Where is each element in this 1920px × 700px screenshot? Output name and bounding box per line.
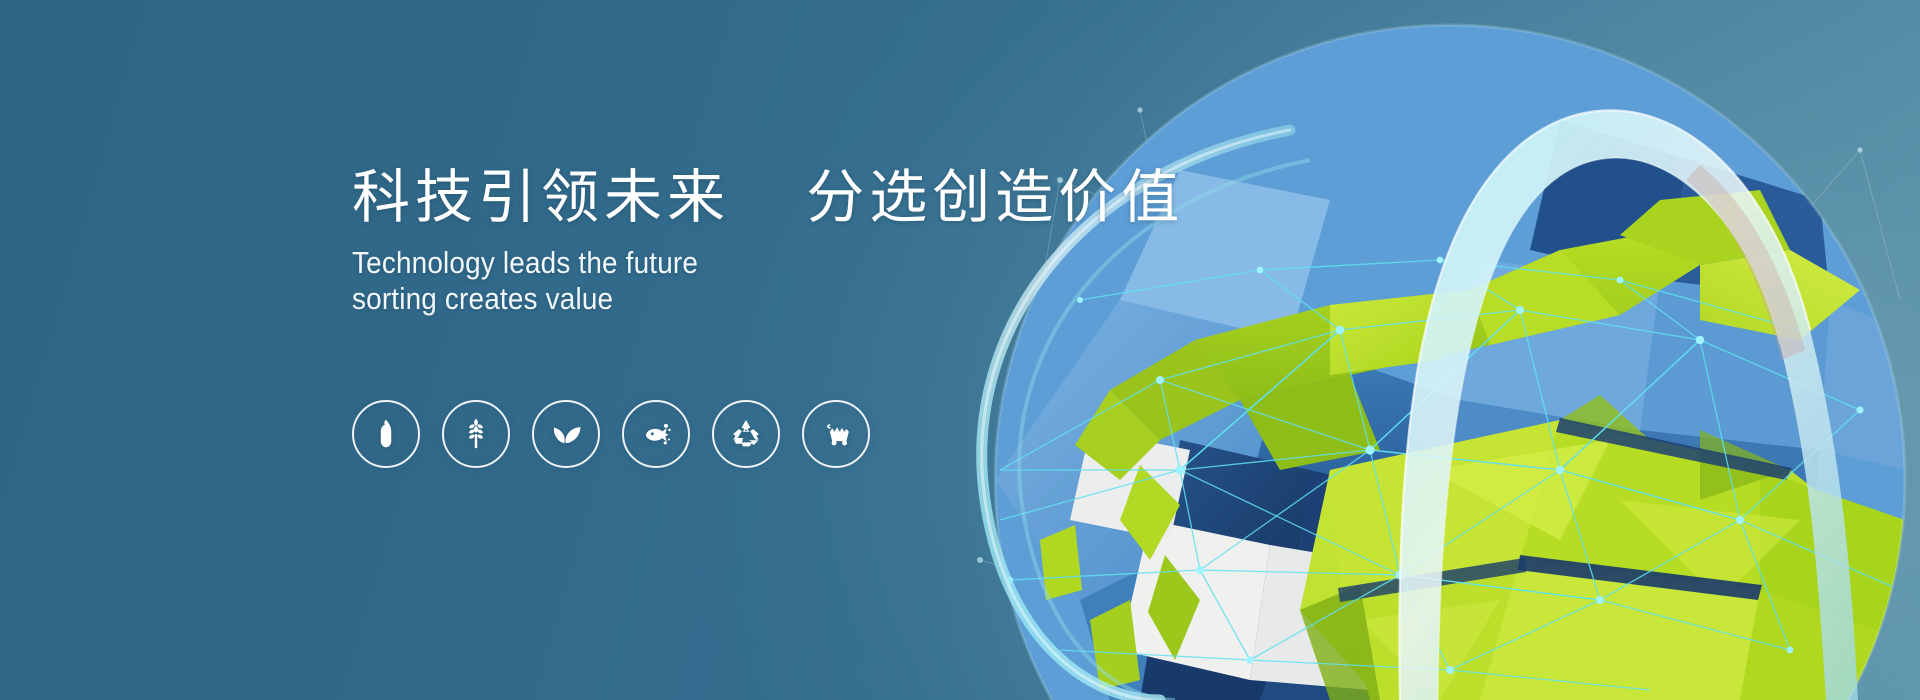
globe-artwork	[0, 0, 1920, 700]
headline-right: 分选创造价值	[806, 165, 1184, 230]
industry-badge-tea-leaf[interactable]	[532, 400, 600, 468]
tea-leaf-icon	[547, 415, 585, 453]
industry-icon-row	[352, 400, 870, 468]
subtitle-line-1: Technology leads the future	[352, 245, 1101, 281]
ore-cart-icon	[817, 415, 855, 453]
seed-icon	[367, 415, 405, 453]
industry-badge-wheat[interactable]	[442, 400, 510, 468]
hero-text-block: 科技引领未来 分选创造价值 Technology leads the futur…	[352, 168, 1184, 317]
industry-badge-recycle[interactable]	[712, 400, 780, 468]
headline-left: 科技引领未来	[352, 165, 730, 230]
industry-badge-ore-cart[interactable]	[802, 400, 870, 468]
wheat-icon	[457, 415, 495, 453]
hero-banner: 科技引领未来 分选创造价值 Technology leads the futur…	[0, 0, 1920, 700]
industry-badge-seed[interactable]	[352, 400, 420, 468]
page-title: 科技引领未来 分选创造价值	[352, 168, 1184, 229]
industry-badge-fish[interactable]	[622, 400, 690, 468]
subtitle-line-2: sorting creates value	[352, 281, 1101, 317]
hero-subtitle: Technology leads the future sorting crea…	[352, 245, 1101, 317]
fish-icon	[637, 415, 675, 453]
recycle-icon	[727, 415, 765, 453]
